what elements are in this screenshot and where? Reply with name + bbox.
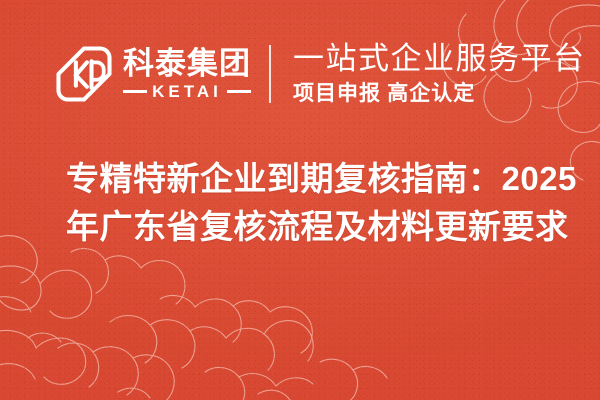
logo-company-name-en: KETAI bbox=[152, 83, 222, 100]
article-title: 专精特新企业到期复核指南：2025 年广东省复核流程及材料更新要求 bbox=[66, 155, 576, 251]
promo-banner: 科泰集团 KETAI 一站式企业服务平台 项目申报 高企认定 专精特新企业到期复… bbox=[0, 0, 600, 400]
company-logo: 科泰集团 KETAI bbox=[55, 45, 251, 103]
logo-en-row: KETAI bbox=[123, 83, 251, 100]
logo-wordmark: 科泰集团 KETAI bbox=[123, 48, 251, 100]
logo-rule-right bbox=[227, 90, 251, 93]
tagline-secondary: 项目申报 高企认定 bbox=[293, 80, 586, 106]
article-title-line-2: 年广东省复核流程及材料更新要求 bbox=[66, 203, 576, 251]
tagline-block: 一站式企业服务平台 项目申报 高企认定 bbox=[293, 42, 586, 106]
article-title-line-1: 专精特新企业到期复核指南：2025 bbox=[66, 155, 576, 203]
ketai-diamond-monogram-icon bbox=[55, 45, 113, 103]
logo-company-name-cn: 科泰集团 bbox=[123, 48, 251, 81]
vertical-divider-icon bbox=[269, 45, 271, 103]
tagline-primary: 一站式企业服务平台 bbox=[293, 42, 586, 77]
logo-rule-left bbox=[123, 90, 147, 93]
banner-header: 科泰集团 KETAI 一站式企业服务平台 项目申报 高企认定 bbox=[0, 30, 600, 118]
